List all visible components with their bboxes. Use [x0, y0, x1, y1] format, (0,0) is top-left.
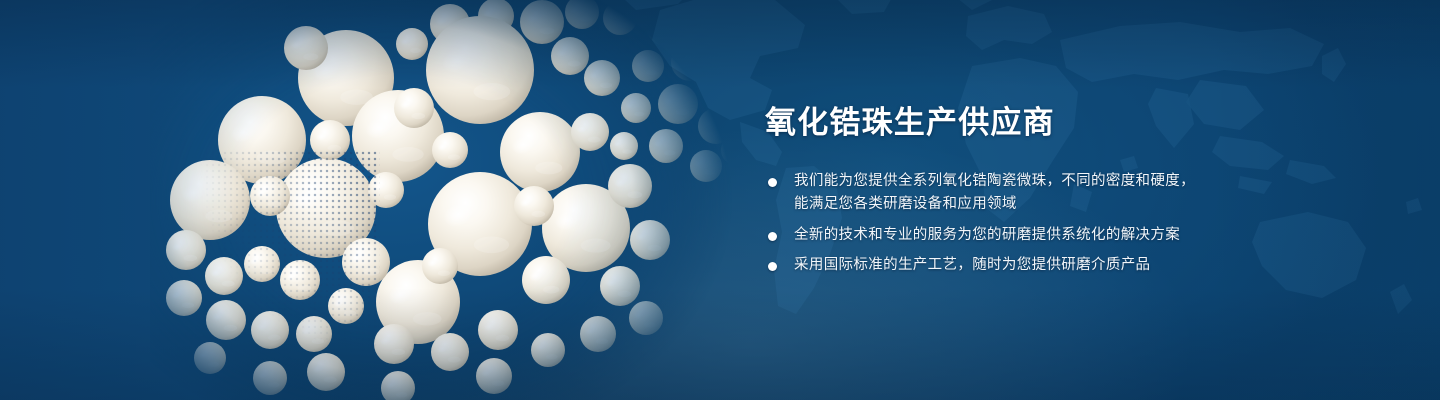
list-item: 我们能为您提供全系列氧化锆陶瓷微珠，不同的密度和硬度， 能满足您各类研磨设备和应…: [765, 170, 1385, 217]
bullet-line: 能满足您各类研磨设备和应用领域: [794, 193, 1385, 216]
bullet-line: 我们能为您提供全系列氧化锆陶瓷微珠，不同的密度和硬度，: [794, 170, 1385, 193]
bullet-dot-icon: [768, 262, 777, 271]
bullet-dot-icon: [768, 178, 777, 187]
list-item: 采用国际标准的生产工艺，随时为您提供研磨介质产品: [765, 254, 1385, 277]
banner-headline: 氧化锆珠生产供应商: [765, 104, 1385, 144]
banner-bullet-list: 我们能为您提供全系列氧化锆陶瓷微珠，不同的密度和硬度， 能满足您各类研磨设备和应…: [765, 170, 1385, 278]
bullet-line: 全新的技术和专业的服务为您的研磨提供系统化的解决方案: [794, 224, 1385, 247]
bullet-dot-icon: [768, 232, 777, 241]
hero-banner: 氧化锆珠生产供应商 我们能为您提供全系列氧化锆陶瓷微珠，不同的密度和硬度， 能满…: [0, 0, 1440, 400]
zirconia-ceramic-beads-photo: [150, 0, 750, 400]
banner-copy: 氧化锆珠生产供应商 我们能为您提供全系列氧化锆陶瓷微珠，不同的密度和硬度， 能满…: [765, 104, 1385, 278]
bullet-line: 采用国际标准的生产工艺，随时为您提供研磨介质产品: [794, 254, 1385, 277]
list-item: 全新的技术和专业的服务为您的研磨提供系统化的解决方案: [765, 224, 1385, 247]
